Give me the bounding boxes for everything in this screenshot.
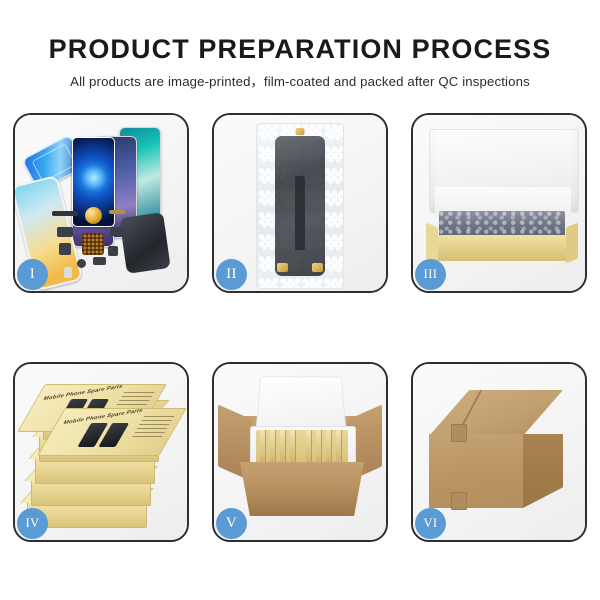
carton-front-face xyxy=(429,434,523,508)
process-step-panel-5: Boxes packed into a white foam cooler in… xyxy=(212,362,388,542)
step-badge-5: V xyxy=(216,508,247,539)
part-chip-1 xyxy=(57,227,73,237)
part-strip-1 xyxy=(52,211,78,216)
page-subtitle: All products are image-printed，film-coat… xyxy=(0,75,600,88)
process-step-panel-3: Wrapped screens placed into an open yell… xyxy=(411,113,587,293)
yellow-box-lid-front: Mobile Phone Spare Parts xyxy=(37,408,187,456)
carton-tape-upper xyxy=(451,424,467,442)
process-step-panel-1: Mobile phone LCD screens, displays and s… xyxy=(13,113,189,293)
phone-back-housing xyxy=(119,212,170,274)
flex-cable xyxy=(295,176,305,250)
step-badge-6: VI xyxy=(415,508,446,539)
process-step-panel-6: Final sealed brown corrugated shipping c… xyxy=(411,362,587,542)
process-step-panel-2: Single LCD screen assembly sealed inside… xyxy=(212,113,388,293)
bubble-wrap-bag xyxy=(256,123,344,289)
kraft-tray-base xyxy=(431,235,573,261)
process-step-panel-4: Mobile Phone Spare Parts Mobile Phone Sp… xyxy=(13,362,189,542)
gold-connector-top xyxy=(296,128,305,135)
carton-top-face xyxy=(429,390,563,436)
process-steps-grid: Mobile phone LCD screens, displays and s… xyxy=(13,113,587,543)
step-badge-1: I xyxy=(17,259,48,290)
part-chip-4 xyxy=(93,257,106,265)
part-chip-2 xyxy=(59,243,71,255)
foam-cooler-lid xyxy=(255,376,346,432)
part-chip-7 xyxy=(64,267,72,278)
product-preparation-infographic: PRODUCT PREPARATION PROCESS All products… xyxy=(0,0,600,600)
part-strip-2 xyxy=(109,210,125,214)
carton-front-wall xyxy=(240,462,364,516)
carton-side-face xyxy=(523,434,563,508)
part-chip-3 xyxy=(77,259,86,268)
gold-component-icon xyxy=(85,207,102,224)
header: PRODUCT PREPARATION PROCESS All products… xyxy=(0,0,600,88)
connector-chip-icon xyxy=(82,233,104,255)
packed-yellow-boxes xyxy=(256,430,348,464)
gold-connector-right xyxy=(312,263,323,272)
step-badge-4: IV xyxy=(17,508,48,539)
step-badge-2: II xyxy=(216,259,247,290)
box-print-text-lines-front xyxy=(130,416,174,440)
carton-tape-lower xyxy=(451,492,467,510)
gold-connector-left xyxy=(277,263,288,272)
part-chip-6 xyxy=(108,246,118,256)
step-badge-3: III xyxy=(415,259,446,290)
page-title: PRODUCT PREPARATION PROCESS xyxy=(0,36,600,63)
part-chip-5 xyxy=(110,227,124,236)
stacked-yellow-boxes: Mobile Phone Spare Parts Mobile Phone Sp… xyxy=(25,382,181,528)
